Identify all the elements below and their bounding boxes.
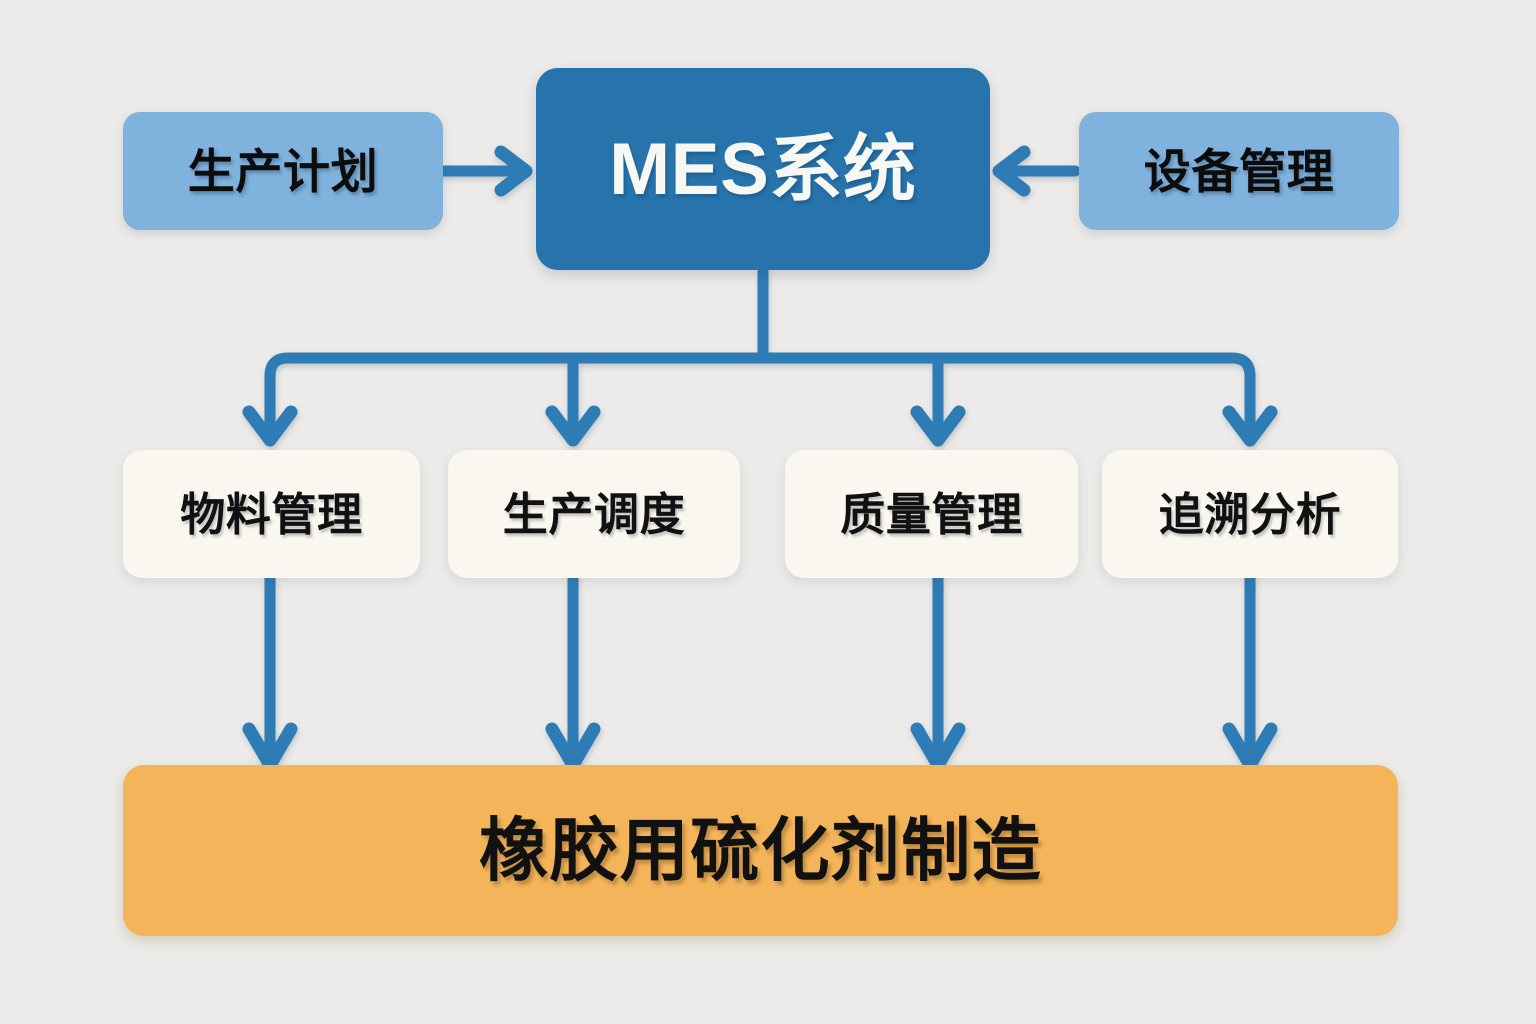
node-equipment-management[interactable]: 设备管理	[1079, 112, 1399, 230]
node-material-management[interactable]: 物料管理	[123, 450, 420, 578]
connector-module-to-output	[249, 578, 1271, 765]
node-equipment-management-label: 设备管理	[1144, 148, 1335, 195]
node-quality-management-label: 质量管理	[840, 492, 1023, 537]
node-traceability-analysis-label: 追溯分析	[1159, 492, 1342, 537]
diagram-canvas: 生产计划 MES系统 设备管理 物料管理 生产调度 质量管理 追溯分析 橡胶用硫…	[0, 0, 1536, 1024]
node-production-scheduling[interactable]: 生产调度	[448, 450, 740, 578]
node-traceability-analysis[interactable]: 追溯分析	[1102, 450, 1398, 578]
node-quality-management[interactable]: 质量管理	[785, 450, 1078, 578]
node-production-scheduling-label: 生产调度	[503, 492, 686, 537]
connector-bus-drops	[249, 358, 1271, 440]
connector-left-input	[443, 152, 526, 190]
node-mes-system-label: MES系统	[609, 133, 916, 206]
node-rubber-vulcanizing-agent-manufacturing-label: 橡胶用硫化剂制造	[479, 816, 1042, 885]
connector-bus	[270, 358, 1250, 376]
node-production-plan[interactable]: 生产计划	[123, 112, 443, 230]
node-rubber-vulcanizing-agent-manufacturing[interactable]: 橡胶用硫化剂制造	[123, 765, 1398, 936]
node-mes-system[interactable]: MES系统	[536, 68, 990, 270]
node-production-plan-label: 生产计划	[188, 148, 379, 195]
node-material-management-label: 物料管理	[180, 492, 363, 537]
connector-right-input	[999, 152, 1075, 190]
